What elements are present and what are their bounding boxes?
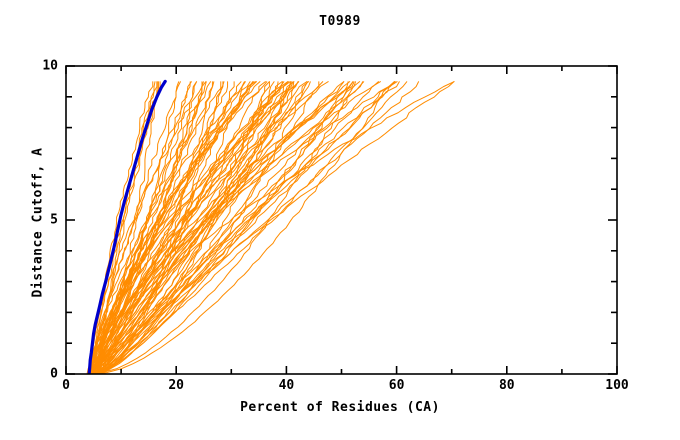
plot-canvas	[0, 0, 680, 440]
x-tick-label: 100	[605, 378, 628, 393]
chart-figure: T0989 Distance Cutoff, A Percent of Resi…	[0, 0, 680, 440]
x-tick-label: 0	[62, 378, 70, 393]
y-tick-label: 5	[28, 213, 58, 228]
prediction-curves-group	[87, 81, 454, 374]
x-tick-label: 60	[389, 378, 405, 393]
y-tick-label: 10	[28, 59, 58, 74]
prediction-curve	[90, 81, 290, 374]
prediction-curve	[91, 81, 379, 374]
y-tick-label: 0	[28, 367, 58, 382]
x-tick-label: 40	[279, 378, 295, 393]
x-tick-label: 20	[168, 378, 184, 393]
prediction-curve	[89, 81, 396, 374]
x-tick-label: 80	[499, 378, 515, 393]
